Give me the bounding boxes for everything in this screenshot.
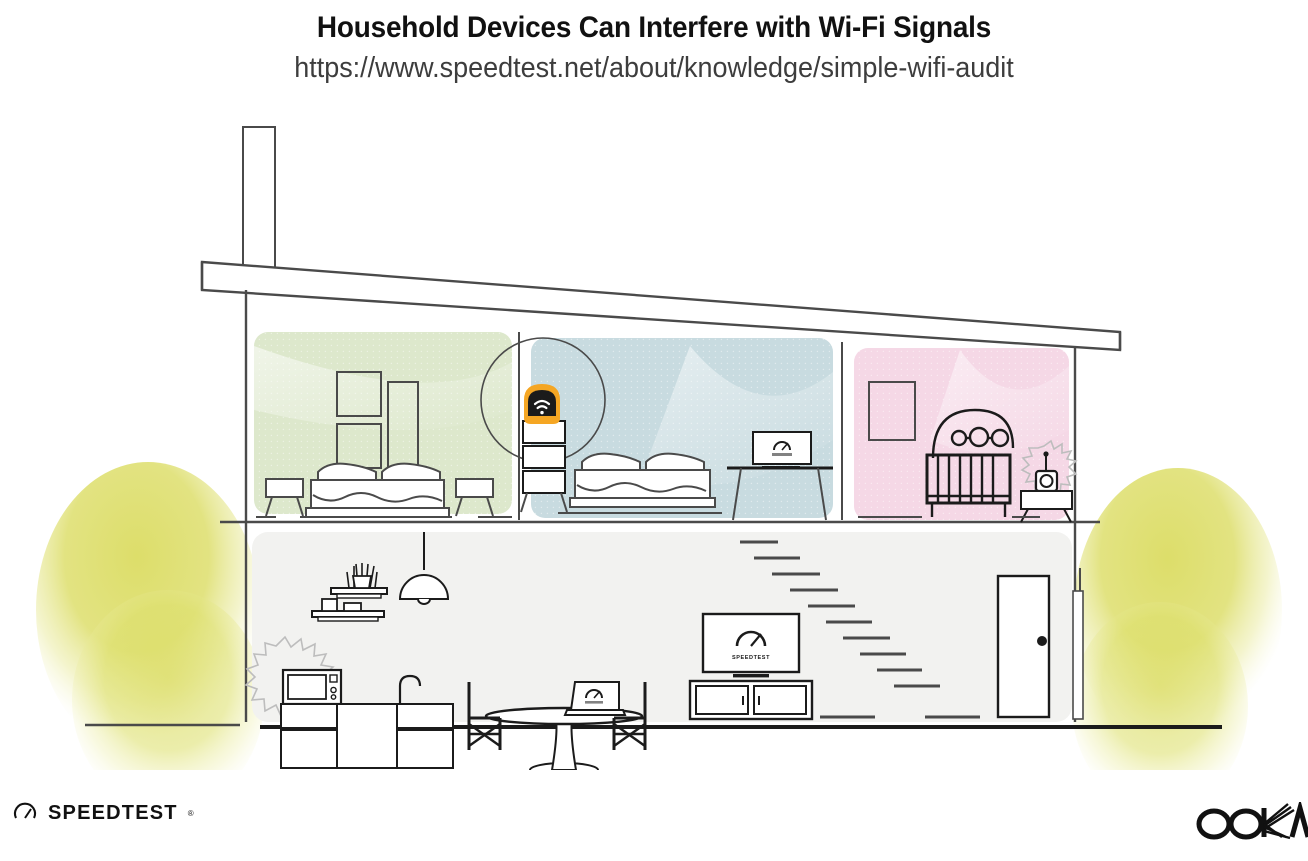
ookla-logo <box>1196 802 1308 845</box>
room-bedroom-green <box>254 332 519 520</box>
media-console <box>690 681 812 719</box>
house-diagram: SPEEDTEST <box>0 110 1308 770</box>
header: Household Devices Can Interfere with Wi-… <box>0 0 1308 86</box>
desktop-monitor <box>753 432 811 469</box>
footer: SPEEDTEST ® <box>0 790 1308 850</box>
room-nursery-pink <box>854 348 1076 522</box>
television[interactable]: SPEEDTEST <box>703 614 799 677</box>
house-illustration: SPEEDTEST <box>0 110 1308 770</box>
room-bedroom-blue <box>481 338 842 520</box>
brand-trademark: ® <box>188 809 194 818</box>
wifi-router[interactable] <box>524 384 560 424</box>
door-knob-real[interactable] <box>1037 636 1047 646</box>
ookla-wordmark-icon <box>1196 802 1308 840</box>
page-title: Household Devices Can Interfere with Wi-… <box>46 8 1262 48</box>
chimney <box>243 127 275 270</box>
poster-root: Household Devices Can Interfere with Wi-… <box>0 0 1308 861</box>
laptop[interactable] <box>565 682 625 715</box>
kitchen-counter <box>281 704 453 768</box>
foliage-right <box>1072 468 1282 770</box>
source-url: https://www.speedtest.net/about/knowledg… <box>46 50 1262 86</box>
upper-shelf <box>331 588 387 598</box>
room-living-kitchen: SPEEDTEST <box>246 532 1083 770</box>
window <box>1073 568 1083 719</box>
speedometer-icon <box>12 800 38 826</box>
tv-screen-label: SPEEDTEST <box>732 655 770 661</box>
brand-label: SPEEDTEST <box>48 802 178 825</box>
front-door[interactable] <box>998 576 1049 717</box>
speedtest-logo: SPEEDTEST ® <box>12 800 194 826</box>
